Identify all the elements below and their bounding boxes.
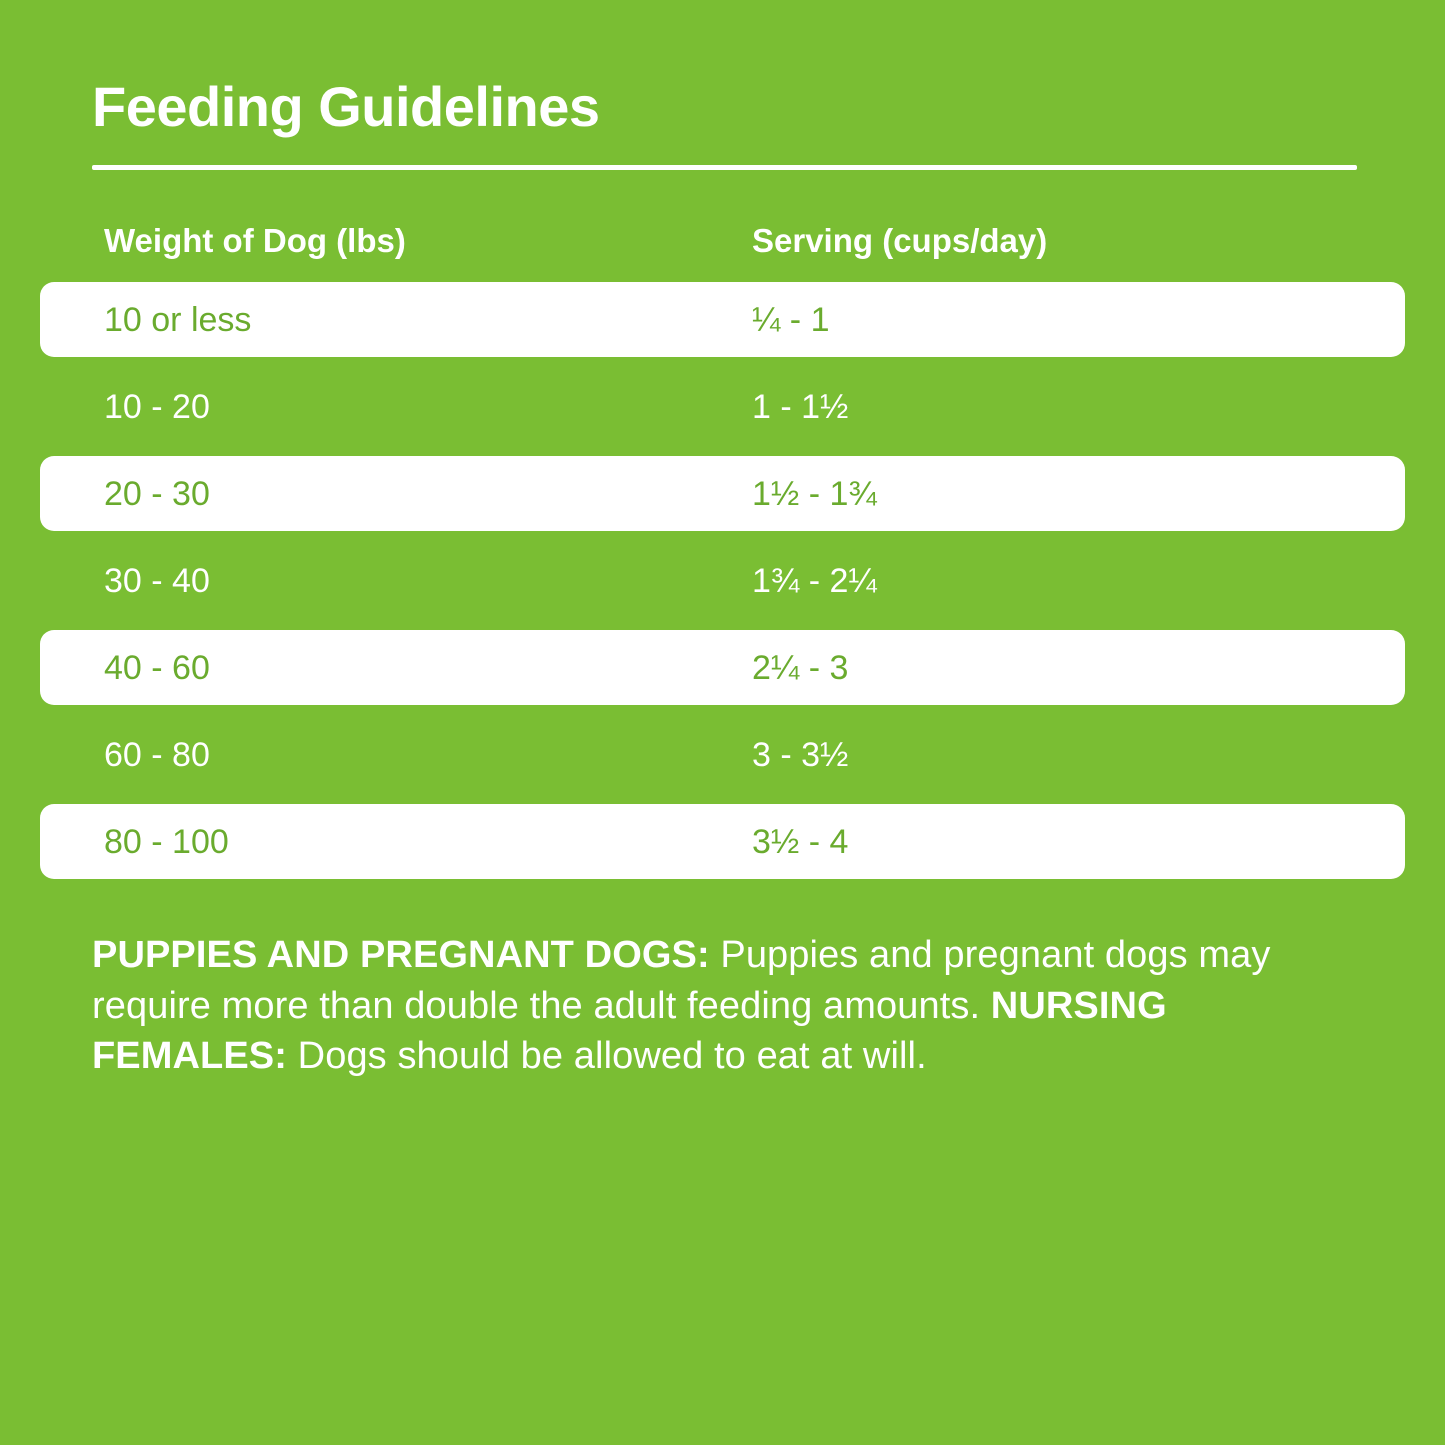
footnote-text: Dogs should be allowed to eat at will. — [287, 1035, 927, 1077]
table-row: 40 - 602¼ - 3 — [40, 630, 1405, 705]
cell-serving: ¼ - 1 — [752, 303, 829, 337]
column-header-serving: Serving (cups/day) — [752, 222, 1047, 260]
column-header-weight: Weight of Dog (lbs) — [104, 222, 406, 260]
feeding-footnote: PUPPIES AND PREGNANT DOGS: Puppies and p… — [92, 930, 1367, 1082]
title-divider — [92, 165, 1357, 170]
cell-serving: 1½ - 1¾ — [752, 477, 877, 511]
page-title: Feeding Guidelines — [92, 78, 600, 137]
table-row: 80 - 1003½ - 4 — [40, 804, 1405, 879]
table-row: 60 - 803 - 3½ — [40, 717, 1405, 792]
cell-weight: 10 - 20 — [104, 390, 210, 424]
table-row: 10 - 201 - 1½ — [40, 369, 1405, 444]
feeding-guidelines-table: Weight of Dog (lbs) Serving (cups/day) 1… — [0, 206, 1445, 891]
cell-serving: 3 - 3½ — [752, 738, 848, 772]
cell-serving: 2¼ - 3 — [752, 651, 848, 685]
feeding-guidelines-panel: Feeding Guidelines Weight of Dog (lbs) S… — [0, 0, 1445, 1445]
cell-weight: 20 - 30 — [104, 477, 210, 511]
table-body: 10 or less¼ - 110 - 201 - 1½20 - 301½ - … — [0, 282, 1445, 879]
cell-serving: 3½ - 4 — [752, 825, 848, 859]
cell-weight: 80 - 100 — [104, 825, 229, 859]
table-row: 10 or less¼ - 1 — [40, 282, 1405, 357]
cell-weight: 60 - 80 — [104, 738, 210, 772]
cell-weight: 30 - 40 — [104, 564, 210, 598]
footnote-lead-in: PUPPIES AND PREGNANT DOGS: — [92, 934, 710, 976]
cell-weight: 40 - 60 — [104, 651, 210, 685]
cell-serving: 1 - 1½ — [752, 390, 848, 424]
cell-serving: 1¾ - 2¼ — [752, 564, 877, 598]
table-row: 20 - 301½ - 1¾ — [40, 456, 1405, 531]
table-row: 30 - 401¾ - 2¼ — [40, 543, 1405, 618]
cell-weight: 10 or less — [104, 303, 251, 337]
table-header-row: Weight of Dog (lbs) Serving (cups/day) — [0, 206, 1445, 282]
